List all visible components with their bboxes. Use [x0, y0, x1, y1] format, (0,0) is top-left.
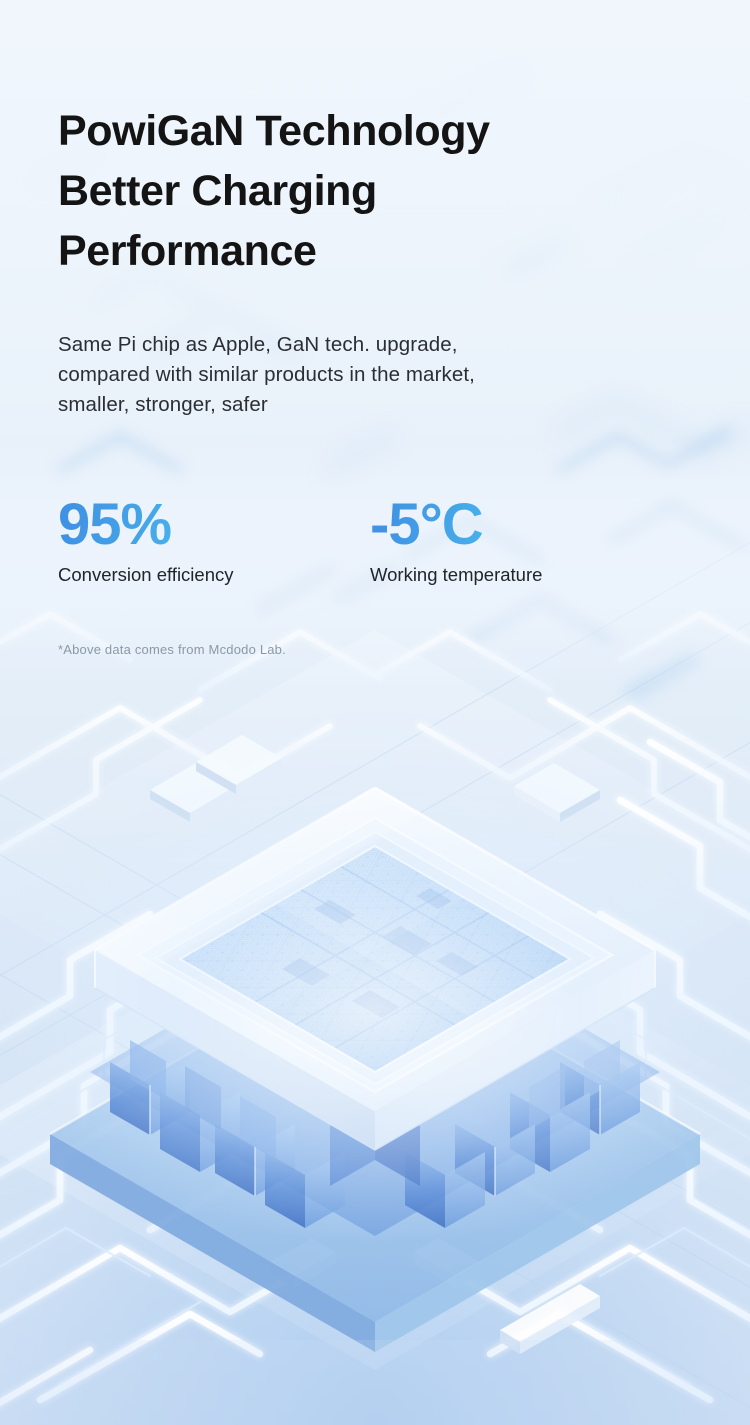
stat-value: 95%: [58, 494, 234, 556]
stat-label: Conversion efficiency: [58, 563, 234, 587]
content-layer: PowiGaN Technology Better Charging Perfo…: [0, 0, 750, 1425]
headline-line-3: Performance: [58, 221, 678, 281]
footnote-disclaimer: *Above data comes from Mcdodo Lab.: [58, 641, 286, 659]
subcopy-line-1: Same Pi chip as Apple, GaN tech. upgrade…: [58, 330, 668, 360]
stat-value: -5°C: [370, 494, 542, 556]
stat-label: Working temperature: [370, 563, 542, 587]
stat-conversion-efficiency: 95% Conversion efficiency: [58, 494, 234, 587]
stat-working-temperature: -5°C Working temperature: [370, 494, 542, 587]
product-feature-page: PowiGaN Technology Better Charging Perfo…: [0, 0, 750, 1425]
headline-line-1: PowiGaN Technology: [58, 101, 678, 161]
subcopy-line-2: compared with similar products in the ma…: [58, 360, 668, 390]
page-title: PowiGaN Technology Better Charging Perfo…: [58, 101, 678, 281]
subheading-description: Same Pi chip as Apple, GaN tech. upgrade…: [58, 330, 668, 420]
subcopy-line-3: smaller, stronger, safer: [58, 390, 668, 420]
headline-line-2: Better Charging: [58, 161, 678, 221]
